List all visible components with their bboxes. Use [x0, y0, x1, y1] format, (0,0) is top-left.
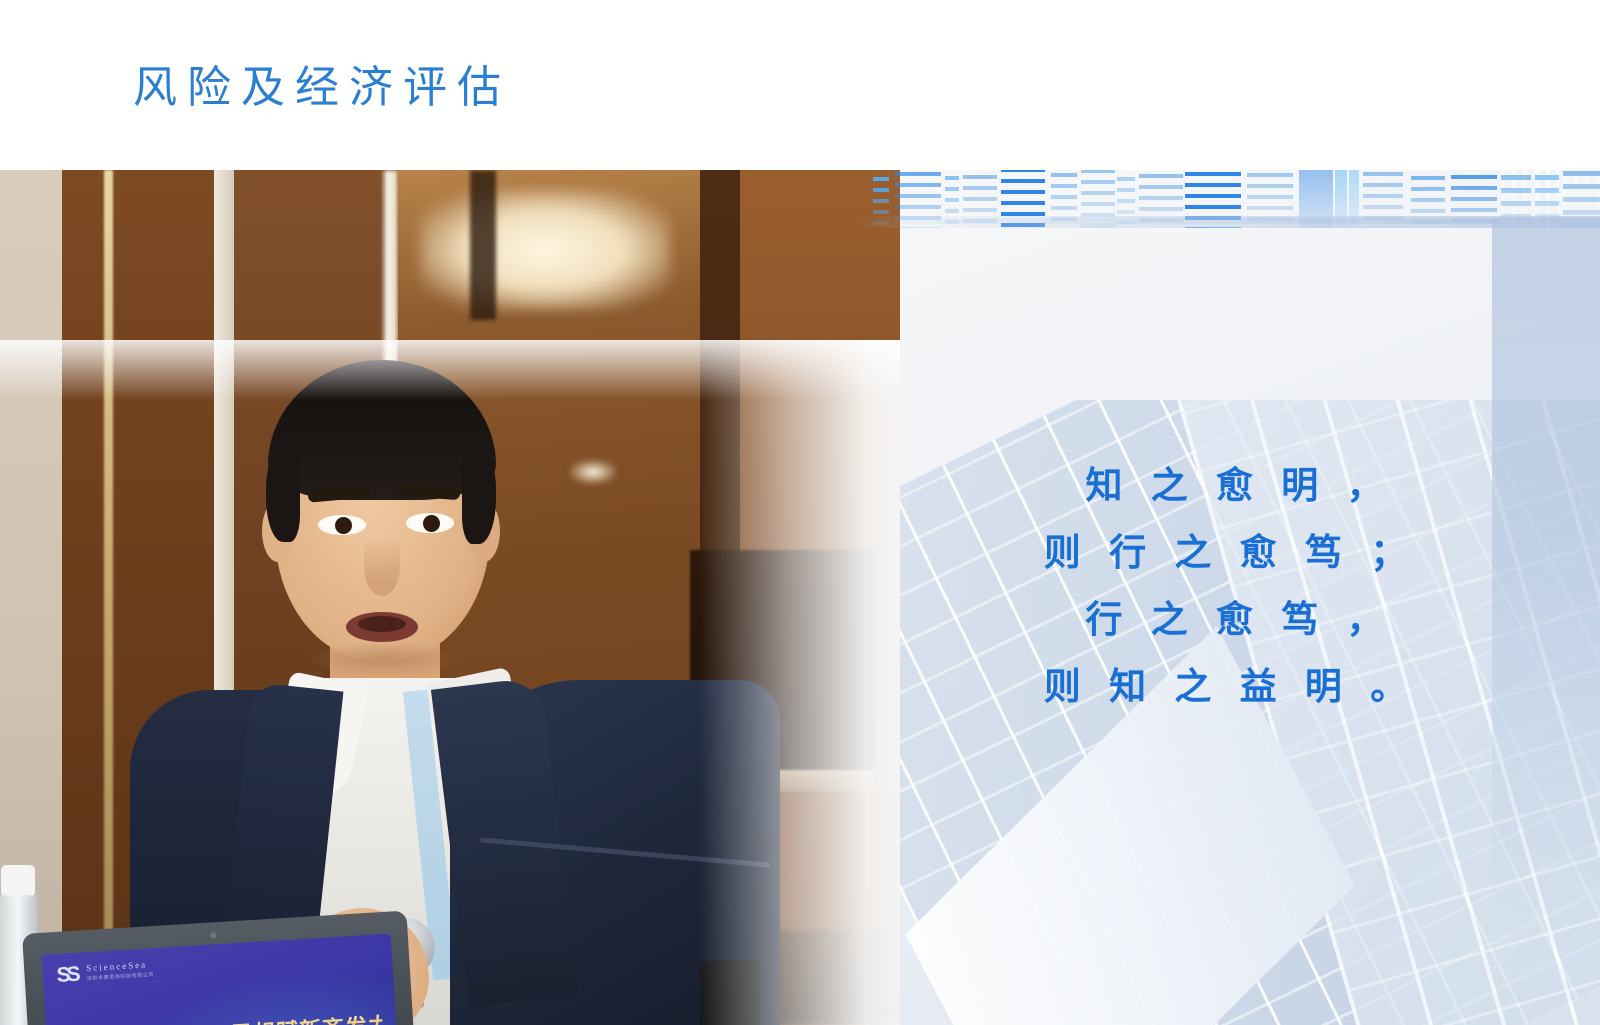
photo-right-fade — [700, 340, 900, 1025]
quote-block: 知 之 愈 明 ， 则 行 之 愈 笃 ； 行 之 愈 笃 ， 则 知 之 益 … — [1040, 452, 1420, 720]
quote-line-3: 行 之 愈 笃 ， — [1040, 586, 1420, 653]
speaker-nose — [364, 538, 400, 596]
slide-header: 风险及经济评估 — [0, 0, 1600, 170]
quote-line-2: 则 行 之 愈 笃 ； — [1040, 519, 1420, 586]
laptop-slide-headline: 夯实根基共提升·思想赋新齐发力 — [60, 1008, 382, 1025]
speaker-hair-side-left — [266, 452, 300, 542]
photo-ceiling-light — [420, 190, 670, 310]
page-title: 风险及经济评估 — [133, 66, 511, 110]
photo-ceiling-beam — [470, 170, 496, 320]
speaker-eye-right — [406, 513, 454, 533]
speaker-hair-side-right — [462, 452, 496, 544]
photo-gold-trim — [104, 170, 113, 1025]
slide: SS ScienceSea 深圳市赛思海科技有限公司 夯实根基共提升·思想赋新齐… — [0, 0, 1600, 1025]
skyline-ground-line — [855, 216, 1600, 228]
speaker-photo: SS ScienceSea 深圳市赛思海科技有限公司 夯实根基共提升·思想赋新齐… — [0, 170, 900, 1025]
blue-accent-column — [1492, 218, 1600, 918]
quote-line-1: 知 之 愈 明 ， — [1040, 452, 1420, 519]
speaker-mouth-inner — [358, 616, 406, 632]
quote-line-4: 则 知 之 益 明 。 — [1040, 653, 1420, 720]
bottle-cap — [1, 865, 35, 897]
speaker-eye-left — [318, 515, 366, 535]
sciencesea-logo-subtitle: 深圳市赛思海科技有限公司 — [87, 971, 155, 982]
speaker-chin-shadow — [310, 642, 458, 676]
photo-top-fade — [0, 340, 900, 400]
speaker-pupil-left — [335, 517, 352, 534]
speaker-pupil-right — [423, 515, 440, 532]
sciencesea-logo-icon: SS — [56, 962, 83, 988]
